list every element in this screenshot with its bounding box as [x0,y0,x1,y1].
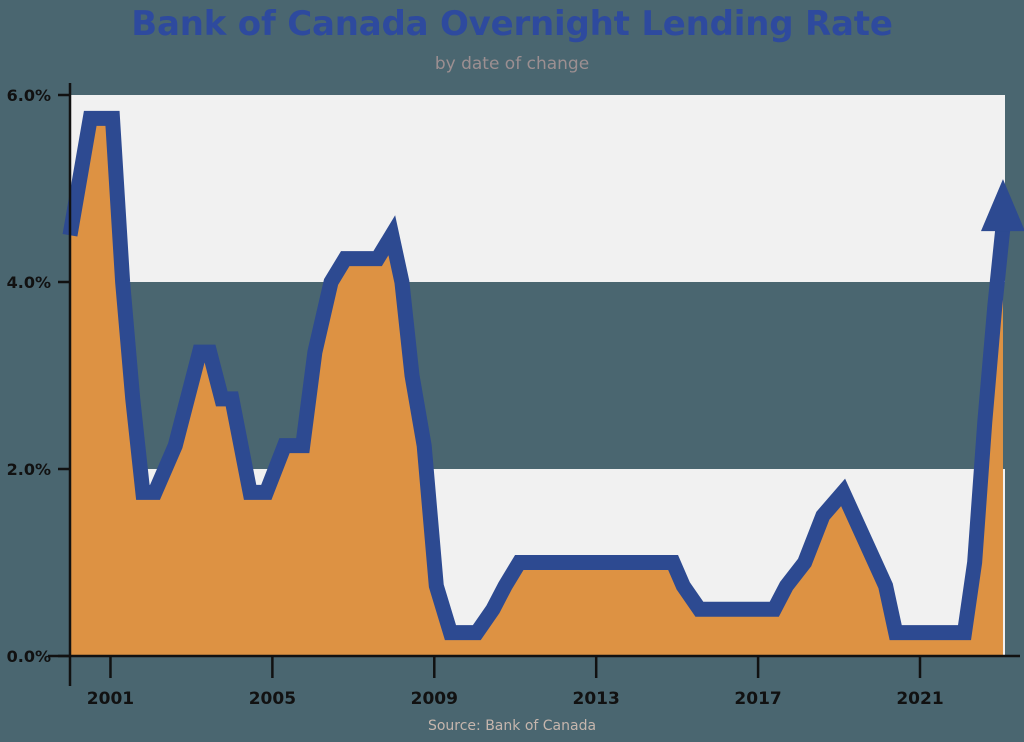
y-axis-ticks: 0.0%2.0%4.0%6.0% [7,86,70,666]
x-tick-label: 2009 [411,689,458,709]
y-tick-label: 4.0% [7,273,51,292]
x-tick-label: 2001 [87,689,134,709]
y-tick-label: 2.0% [7,460,51,479]
chart-plot-area: 0.0%2.0%4.0%6.0% 20012005200920132017202… [0,0,1024,742]
chart-root: Bank of Canada Overnight Lending Rate by… [0,0,1024,742]
y-tick-label: 6.0% [7,86,51,105]
x-axis-ticks: 200120052009201320172021 [87,656,944,709]
x-tick-label: 2013 [573,689,620,709]
band-0 [70,95,1005,282]
x-tick-label: 2021 [896,689,943,709]
x-tick-label: 2017 [734,689,781,709]
y-tick-label: 0.0% [7,647,51,666]
x-tick-label: 2005 [249,689,296,709]
source-caption: Source: Bank of Canada [0,717,1024,735]
